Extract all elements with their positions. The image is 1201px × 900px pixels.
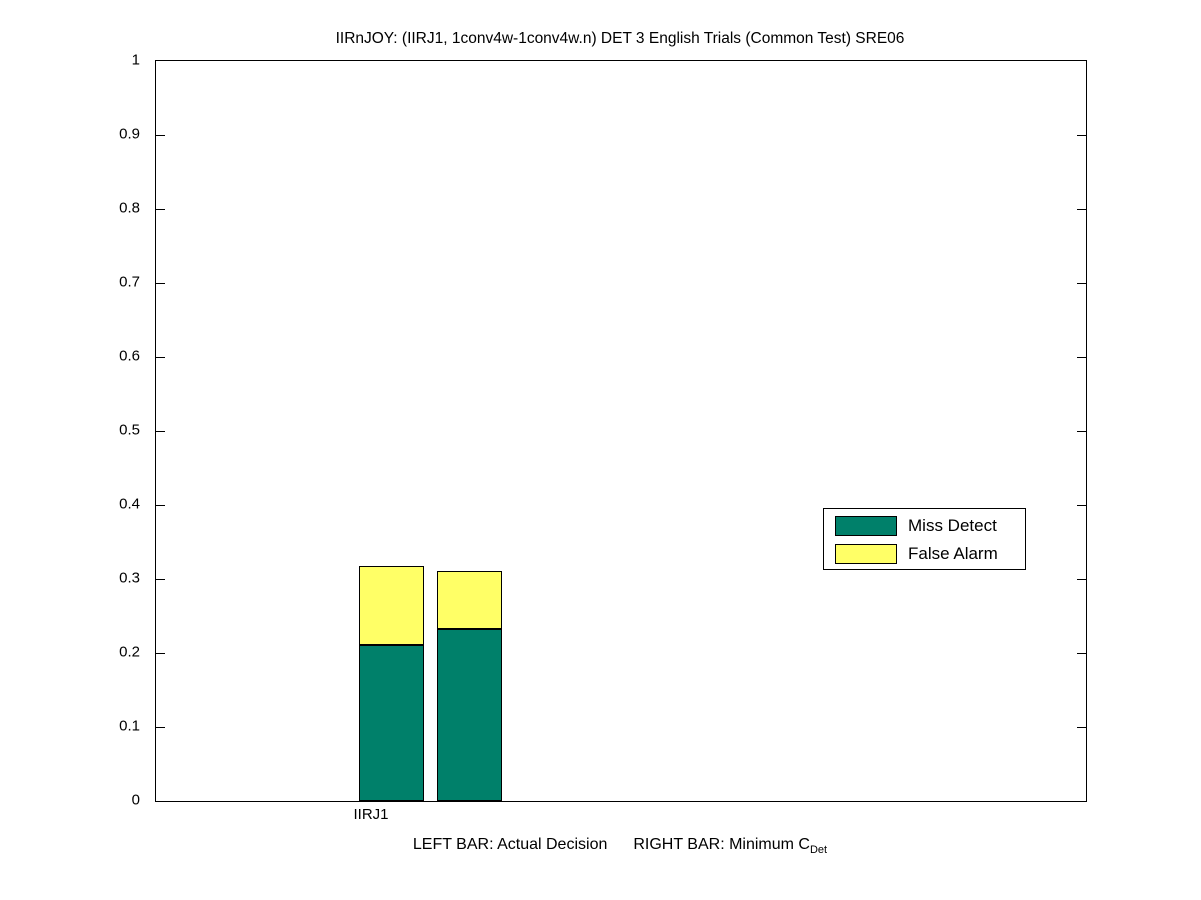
y-tick-mark (1077, 357, 1086, 358)
y-tick-mark (156, 135, 165, 136)
y-tick-mark (1077, 653, 1086, 654)
y-tick-label: 0 (132, 793, 140, 808)
y-tick-label: 0.4 (119, 497, 140, 512)
y-tick-mark (156, 579, 165, 580)
y-tick-label: 0.3 (119, 571, 140, 586)
bar-segment-miss-detect[interactable] (437, 629, 502, 801)
legend-label-miss-detect: Miss Detect (908, 517, 997, 534)
y-tick-mark (1077, 135, 1086, 136)
y-tick-mark (1077, 579, 1086, 580)
x-axis-label: LEFT BAR: Actual DecisionRIGHT BAR: Mini… (155, 836, 1085, 856)
x-axis-tick-labels: IIRJ1 (155, 806, 1085, 830)
y-tick-mark (1077, 727, 1086, 728)
y-axis-tick-labels: 00.10.20.30.40.50.60.70.80.91 (0, 60, 148, 800)
y-tick-mark (156, 505, 165, 506)
y-tick-mark (156, 209, 165, 210)
figure: IIRnJOY: (IIRJ1, 1conv4w-1conv4w.n) DET … (0, 0, 1201, 900)
legend-item-false-alarm[interactable]: False Alarm (824, 540, 1025, 567)
bar-segment-miss-detect[interactable] (359, 645, 424, 801)
y-tick-mark (1077, 431, 1086, 432)
legend[interactable]: Miss Detect False Alarm (823, 508, 1026, 570)
legend-swatch-miss-detect (835, 516, 897, 536)
bar-actual-decision[interactable] (359, 566, 424, 801)
y-tick-mark (156, 431, 165, 432)
y-tick-mark (156, 727, 165, 728)
x-axis-label-right-subscript: Det (810, 844, 827, 856)
legend-item-miss-detect[interactable]: Miss Detect (824, 512, 1025, 539)
y-tick-mark (156, 357, 165, 358)
plot-area (155, 60, 1087, 802)
y-tick-mark (156, 653, 165, 654)
y-tick-mark (156, 283, 165, 284)
bar-minimum-cdet[interactable] (437, 571, 502, 801)
legend-label-false-alarm: False Alarm (908, 545, 998, 562)
legend-swatch-false-alarm (835, 544, 897, 564)
chart-title: IIRnJOY: (IIRJ1, 1conv4w-1conv4w.n) DET … (155, 30, 1085, 48)
y-tick-label: 0.1 (119, 719, 140, 734)
bar-segment-false-alarm[interactable] (437, 571, 502, 629)
y-tick-mark (1077, 283, 1086, 284)
x-axis-label-right: RIGHT BAR: Minimum C (633, 836, 810, 853)
x-tick-label: IIRJ1 (354, 806, 389, 823)
y-tick-label: 0.8 (119, 201, 140, 216)
y-tick-mark (1077, 209, 1086, 210)
y-tick-label: 0.7 (119, 275, 140, 290)
y-tick-mark (1077, 505, 1086, 506)
x-axis-label-left: LEFT BAR: Actual Decision (413, 836, 607, 853)
y-tick-label: 1 (132, 53, 140, 68)
y-tick-label: 0.2 (119, 645, 140, 660)
y-tick-label: 0.5 (119, 423, 140, 438)
y-tick-label: 0.9 (119, 127, 140, 142)
y-tick-label: 0.6 (119, 349, 140, 364)
bar-segment-false-alarm[interactable] (359, 566, 424, 644)
